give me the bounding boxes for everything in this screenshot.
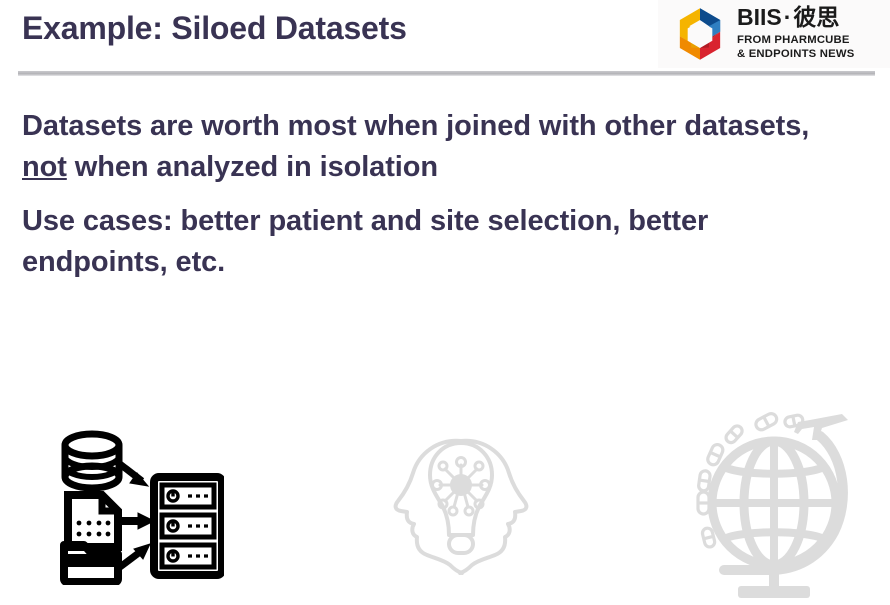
header-divider (18, 71, 875, 76)
globe-with-pills-icon (692, 410, 862, 600)
logo-text-block: BIIS·彼思 FROM PHARMCUBE & ENDPOINTS NEWS (737, 6, 854, 62)
paragraph-text-before: Use cases: better patient and site selec… (22, 205, 708, 278)
paragraph-emphasis: not (22, 151, 67, 183)
biis-hexagon-logo-icon (672, 6, 728, 62)
icon-row (0, 405, 890, 601)
server-rack-icon (154, 477, 222, 575)
database-cylinder-icon (65, 434, 119, 488)
database-document-folder-to-server-rack-icon (58, 425, 224, 585)
logo-subtitle-line2: & ENDPOINTS NEWS (737, 48, 854, 62)
slide-header: Example: Siloed Datasets (0, 0, 890, 78)
body-copy: Datasets are worth most when joined with… (22, 106, 842, 296)
icon-insight-generation (386, 419, 536, 594)
logo-subtitle: FROM PHARMCUBE & ENDPOINTS NEWS (737, 34, 854, 62)
icon-data-sources-to-servers (58, 425, 224, 590)
logo-wordmark-cjk: 彼思 (793, 4, 839, 30)
paragraph-value-of-joined-data: Datasets are worth most when joined with… (22, 106, 842, 187)
logo-wordmark-latin: BIIS (737, 4, 782, 30)
icon-global-reach (692, 410, 862, 605)
logo-subtitle-line1: FROM PHARMCUBE (737, 34, 854, 48)
paragraph-text-after: when analyzed in isolation (67, 151, 438, 183)
logo-wordmark-separator: · (784, 4, 792, 30)
lightbulb-base-icon (449, 535, 473, 553)
paragraph-use-cases: Use cases: better patient and site selec… (22, 201, 842, 282)
paragraph-text-before: Datasets are worth most when joined with… (22, 110, 809, 142)
document-icon (68, 495, 118, 547)
brand-logo: BIIS·彼思 FROM PHARMCUBE & ENDPOINTS NEWS (658, 0, 890, 68)
page-title: Example: Siloed Datasets (22, 10, 407, 47)
two-heads-lightbulb-network-icon (386, 419, 536, 589)
logo-wordmark: BIIS·彼思 (737, 6, 854, 29)
globe-base-icon (738, 586, 810, 598)
molecule-network-icon (433, 458, 490, 516)
